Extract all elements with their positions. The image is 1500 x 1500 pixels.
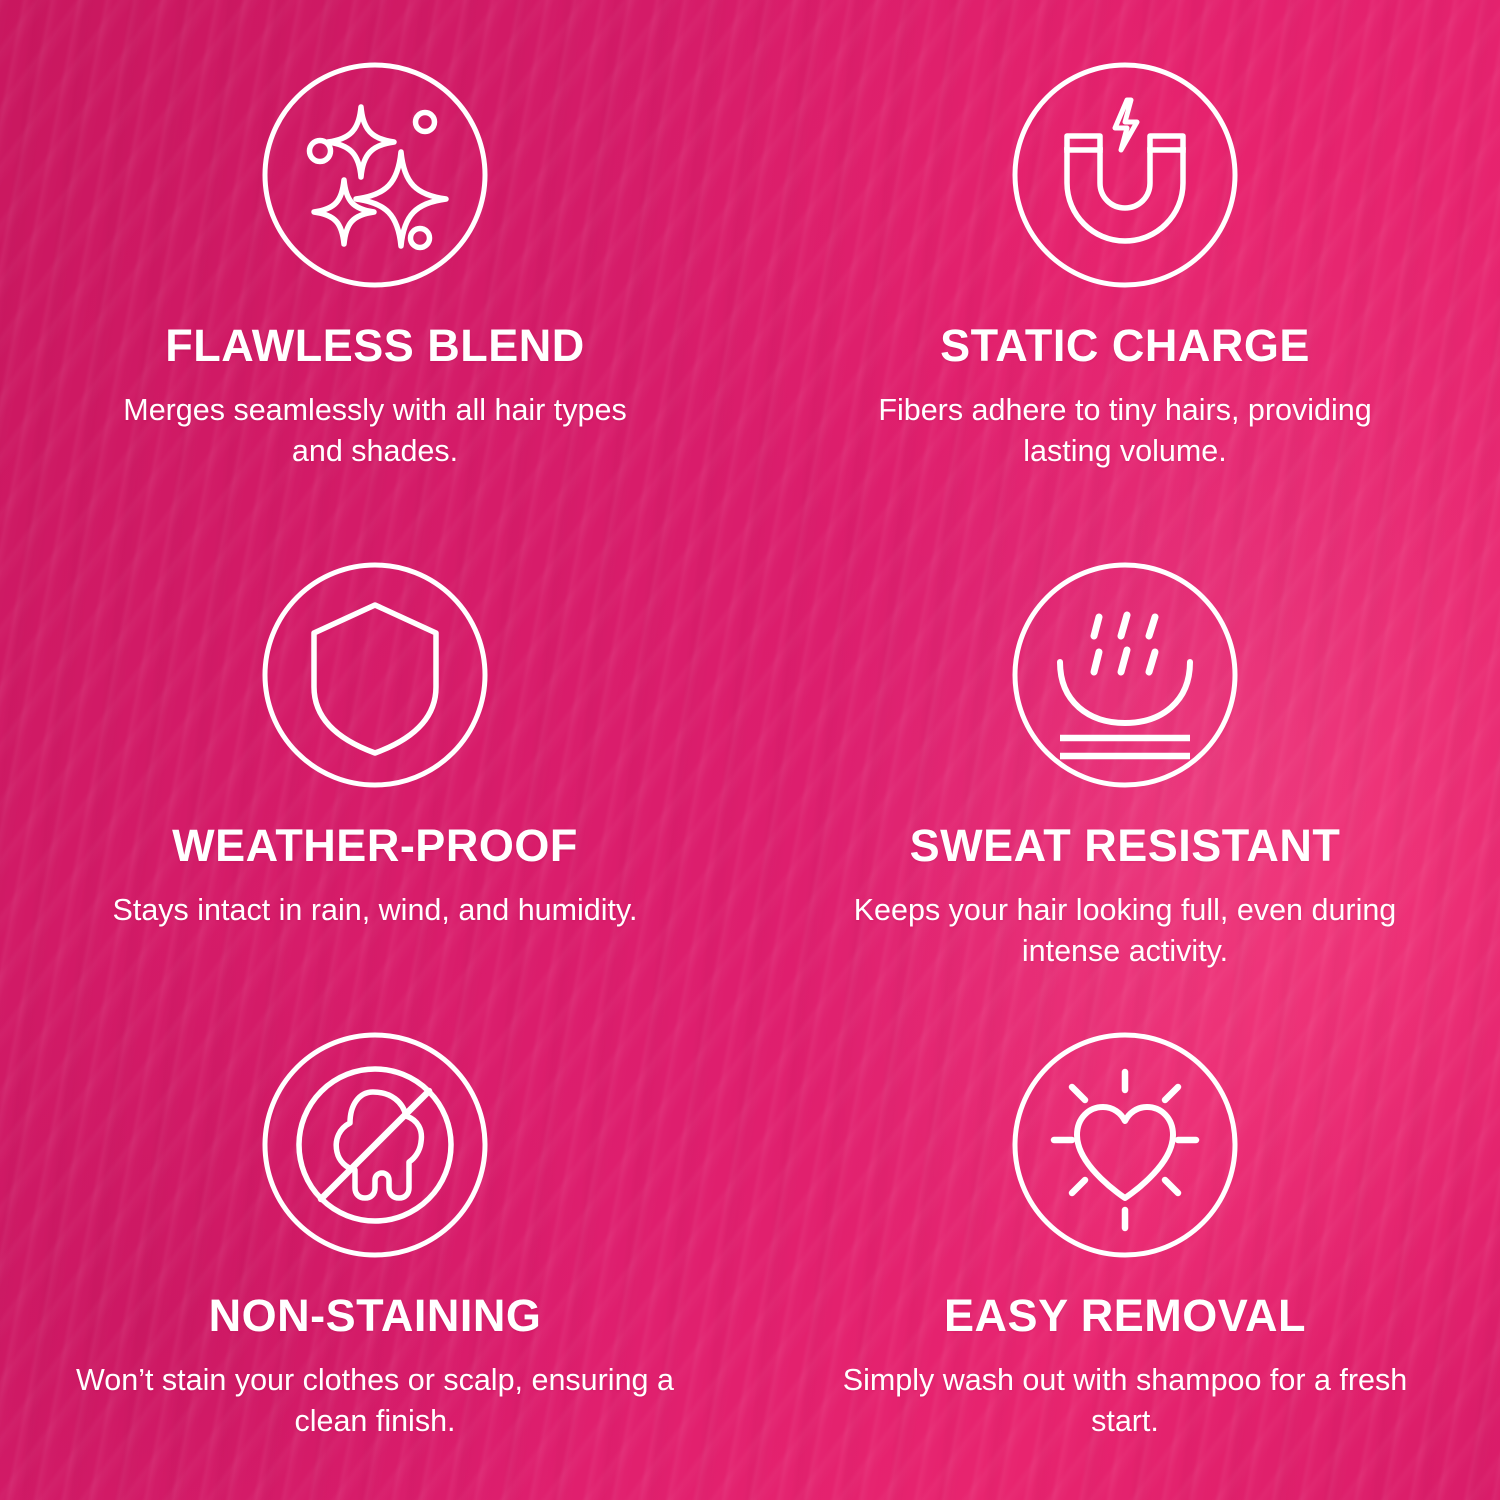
shield-icon <box>260 560 490 790</box>
feature-description: Fibers adhere to tiny hairs, providing l… <box>845 390 1405 471</box>
feature-grid: FLAWLESS BLEND Merges seamlessly with al… <box>0 0 1500 1500</box>
feature-item-easy-removal: EASY REMOVAL Simply wash out with shampo… <box>750 1030 1500 1500</box>
water-repellent-icon <box>1010 560 1240 790</box>
feature-title: EASY REMOVAL <box>944 1293 1306 1338</box>
feature-title: WEATHER-PROOF <box>172 823 578 868</box>
feature-item-non-staining: NON-STAINING Won’t stain your clothes or… <box>0 1030 750 1500</box>
feature-item-weather-proof: WEATHER-PROOF Stays intact in rain, wind… <box>0 560 750 1030</box>
feature-title: FLAWLESS BLEND <box>165 323 585 368</box>
no-stain-icon <box>260 1030 490 1260</box>
heart-shine-icon <box>1010 1030 1240 1260</box>
feature-description: Stays intact in rain, wind, and humidity… <box>113 890 638 931</box>
feature-title: SWEAT RESISTANT <box>910 823 1341 868</box>
feature-description: Merges seamlessly with all hair types an… <box>95 390 655 471</box>
feature-description: Simply wash out with shampoo for a fresh… <box>825 1360 1425 1441</box>
feature-title: STATIC CHARGE <box>940 323 1310 368</box>
magnet-icon <box>1010 60 1240 290</box>
feature-item-static-charge: STATIC CHARGE Fibers adhere to tiny hair… <box>750 60 1500 560</box>
feature-item-sweat-resistant: SWEAT RESISTANT Keeps your hair looking … <box>750 560 1500 1030</box>
feature-description: Keeps your hair looking full, even durin… <box>825 890 1425 971</box>
feature-title: NON-STAINING <box>209 1293 542 1338</box>
feature-item-flawless-blend: FLAWLESS BLEND Merges seamlessly with al… <box>0 60 750 560</box>
infographic-background: FLAWLESS BLEND Merges seamlessly with al… <box>0 0 1500 1500</box>
feature-description: Won’t stain your clothes or scalp, ensur… <box>75 1360 675 1441</box>
sparkle-icon <box>260 60 490 290</box>
